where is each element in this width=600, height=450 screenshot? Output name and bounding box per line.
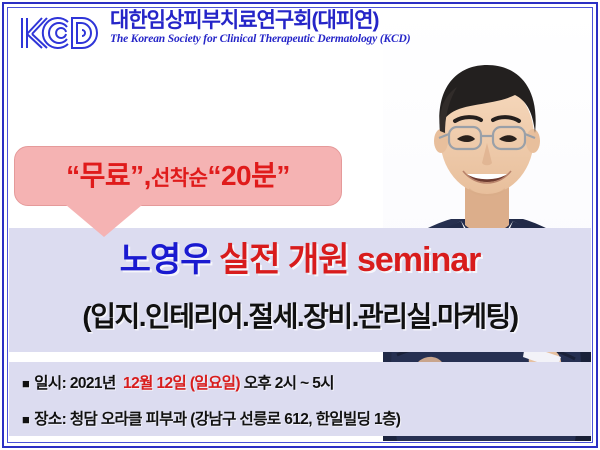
promo-bubble-text: “무료”,선착순“20분” xyxy=(66,162,290,190)
promo-free-label: “무료”, xyxy=(66,160,151,191)
promo-callout: “무료”,선착순“20분” xyxy=(14,146,342,206)
seminar-topics: (입지.인테리어.절세.장비.관리실.마케팅) xyxy=(0,303,600,331)
date-highlight: 12월 12일 (일요일) xyxy=(123,375,240,392)
kcd-logo-icon xyxy=(16,11,102,55)
seminar-poster: 대한임상피부치료연구회(대피연) The Korean Society for … xyxy=(0,0,600,450)
promo-bubble-tail xyxy=(66,205,142,237)
speaker-name: 노영우 xyxy=(120,241,211,279)
date-bullet-icon: ■ xyxy=(22,376,29,391)
date-time: 오후 2시 ~ 5시 xyxy=(244,375,334,392)
date-year: 2021년 xyxy=(70,375,116,392)
venue-place: 청담 오라클 피부과 xyxy=(70,411,187,428)
seminar-title: 실전 개원 seminar xyxy=(219,241,480,279)
poster-header: 대한임상피부치료연구회(대피연) The Korean Society for … xyxy=(10,9,410,61)
event-venue-row: ■장소: 청담 오라클 피부과 (강남구 선릉로 612, 한일빌딩 1층) xyxy=(22,412,400,428)
seminar-topics-text: (입지.인테리어.절세.장비.관리실.마케팅) xyxy=(82,301,517,332)
venue-label: 장소: xyxy=(34,411,66,428)
page-title: 노영우 실전 개원 seminar xyxy=(0,243,600,277)
promo-bubble: “무료”,선착순“20분” xyxy=(14,146,342,206)
date-label: 일시: xyxy=(34,375,66,392)
promo-count-label: “20분” xyxy=(207,160,289,191)
venue-bullet-icon: ■ xyxy=(22,412,29,427)
event-date-row: ■일시: 2021년 12월 12일 (일요일) 오후 2시 ~ 5시 xyxy=(22,376,334,392)
promo-limit-label: 선착순 xyxy=(151,167,207,190)
org-name-english: The Korean Society for Clinical Therapeu… xyxy=(110,33,410,47)
venue-address: (강남구 선릉로 612, 한일빌딩 1층) xyxy=(190,411,400,428)
org-name-korean: 대한임상피부치료연구회(대피연) xyxy=(110,10,410,32)
